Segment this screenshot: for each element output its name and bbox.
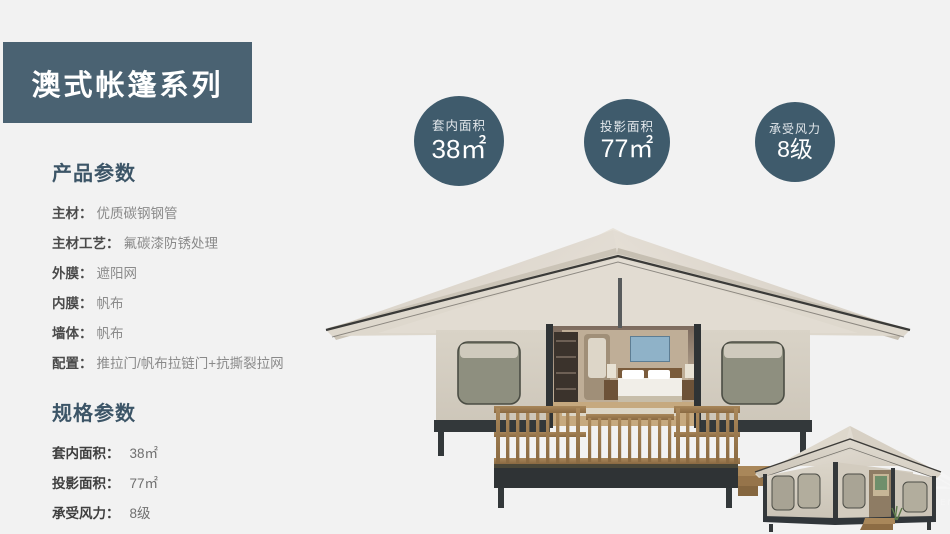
list-item: 配置：推拉门/帆布拉链门+抗撕裂拉网 xyxy=(52,349,352,379)
spec-value: 38㎡ xyxy=(130,446,159,461)
spec-value: 8级 xyxy=(130,506,151,521)
product-parameters-list: 主材：优质碳钢钢管 主材工艺：氟碳漆防锈处理 外膜：遮阳网 内膜：帆布 墙体：帆… xyxy=(52,199,352,379)
spec-label: 主材工艺： xyxy=(52,236,120,251)
spec-label: 外膜： xyxy=(52,266,93,281)
specification-parameters-list: 套内面积：38㎡ 投影面积：77㎡ 承受风力：8级 xyxy=(52,439,352,529)
spec-label: 套内面积： xyxy=(52,446,120,461)
list-item: 主材：优质碳钢钢管 xyxy=(52,199,352,229)
secondary-tent-image xyxy=(745,420,945,534)
product-parameters-block: 产品参数 主材：优质碳钢钢管 主材工艺：氟碳漆防锈处理 外膜：遮阳网 内膜：帆布… xyxy=(52,163,352,379)
spec-value: 帆布 xyxy=(97,326,124,341)
spec-label: 墙体： xyxy=(52,326,93,341)
spec-label: 内膜： xyxy=(52,296,93,311)
spec-value: 遮阳网 xyxy=(97,266,138,281)
spec-value: 氟碳漆防锈处理 xyxy=(124,236,219,251)
stat-value: 38㎡ xyxy=(432,135,487,164)
spec-value: 帆布 xyxy=(97,296,124,311)
page-title: 澳式帐篷系列 xyxy=(31,62,223,104)
list-item: 主材工艺：氟碳漆防锈处理 xyxy=(52,229,352,259)
list-item: 内膜：帆布 xyxy=(52,289,352,319)
list-item: 外膜：遮阳网 xyxy=(52,259,352,289)
stat-value: 8级 xyxy=(777,137,813,162)
stat-badge-wind-resistance: 承受风力 8级 xyxy=(755,102,835,182)
spec-value: 推拉门/帆布拉链门+抗撕裂拉网 xyxy=(97,356,284,371)
spec-label: 承受风力： xyxy=(52,506,120,521)
list-item: 承受风力：8级 xyxy=(52,499,352,529)
product-parameters-heading: 产品参数 xyxy=(52,163,352,185)
stat-badge-interior-area: 套内面积 38㎡ xyxy=(414,96,504,186)
stat-badge-projected-area: 投影面积 77㎡ xyxy=(584,99,670,185)
specification-parameters-block: 规格参数 套内面积：38㎡ 投影面积：77㎡ 承受风力：8级 xyxy=(52,403,352,529)
stat-label: 套内面积 xyxy=(432,119,486,134)
spec-value: 77㎡ xyxy=(130,476,159,491)
spec-label: 配置： xyxy=(52,356,93,371)
tent-illustration-small-svg xyxy=(745,420,945,534)
list-item: 投影面积：77㎡ xyxy=(52,469,352,499)
spec-value: 优质碳钢钢管 xyxy=(97,206,178,221)
list-item: 墙体：帆布 xyxy=(52,319,352,349)
stat-label: 投影面积 xyxy=(600,120,654,135)
title-banner: 澳式帐篷系列 xyxy=(3,42,252,123)
info-column: 产品参数 主材：优质碳钢钢管 主材工艺：氟碳漆防锈处理 外膜：遮阳网 内膜：帆布… xyxy=(52,163,352,529)
spec-label: 主材： xyxy=(52,206,93,221)
specification-parameters-heading: 规格参数 xyxy=(52,403,352,425)
list-item: 套内面积：38㎡ xyxy=(52,439,352,469)
slide-canvas: 澳式帐篷系列 产品参数 主材：优质碳钢钢管 主材工艺：氟碳漆防锈处理 外膜：遮阳… xyxy=(0,0,950,534)
stat-value: 77㎡ xyxy=(601,136,654,164)
stat-label: 承受风力 xyxy=(769,122,821,136)
spec-label: 投影面积： xyxy=(52,476,120,491)
